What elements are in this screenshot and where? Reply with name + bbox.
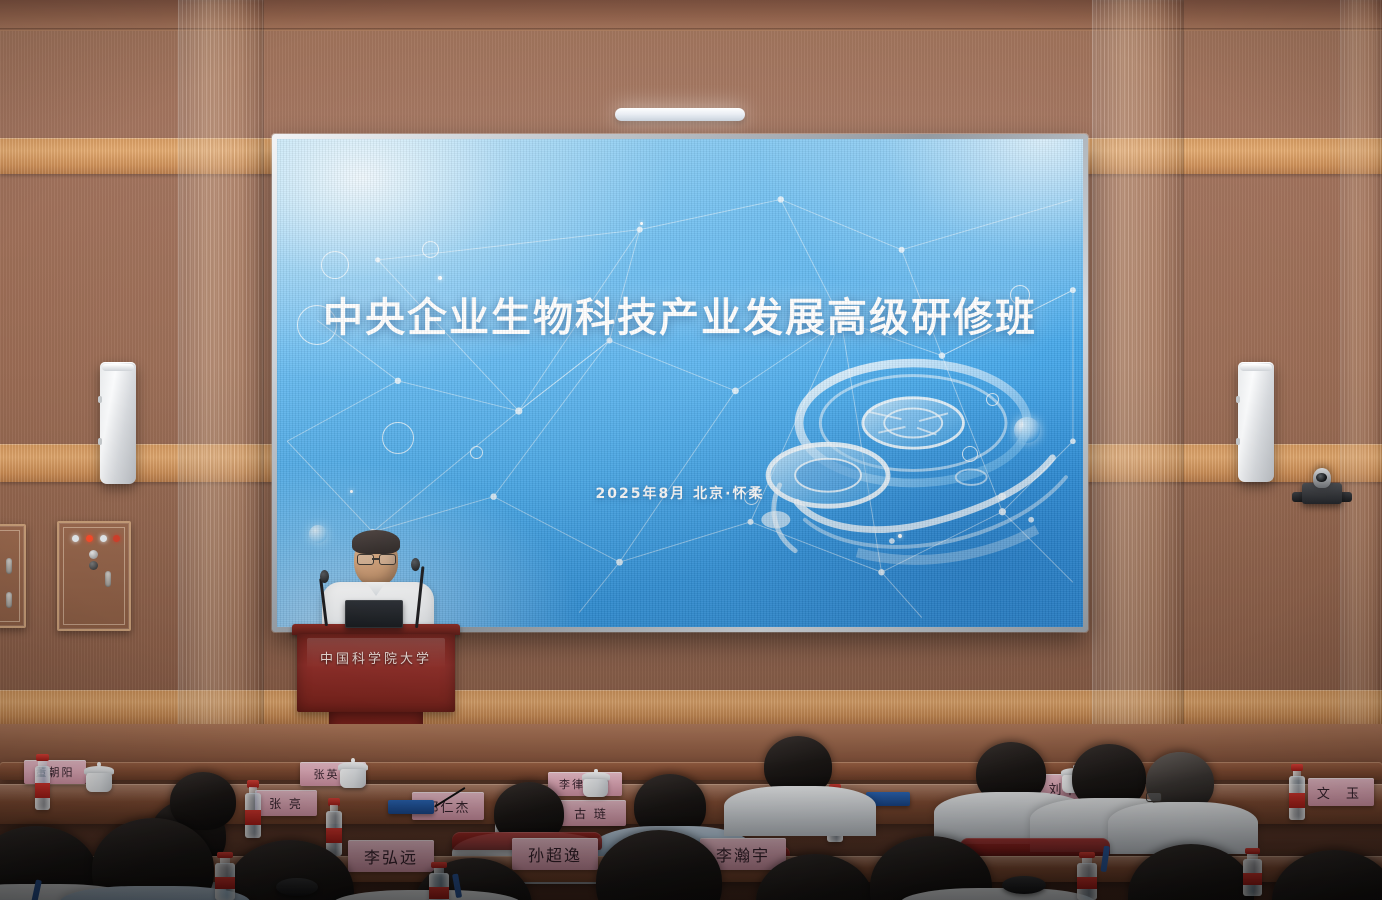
photo-vignette: [0, 0, 1382, 900]
conference-hall-photo: 中央企业生物科技产业发展高级研修班 2025年8月 北京·怀柔: [0, 0, 1382, 900]
